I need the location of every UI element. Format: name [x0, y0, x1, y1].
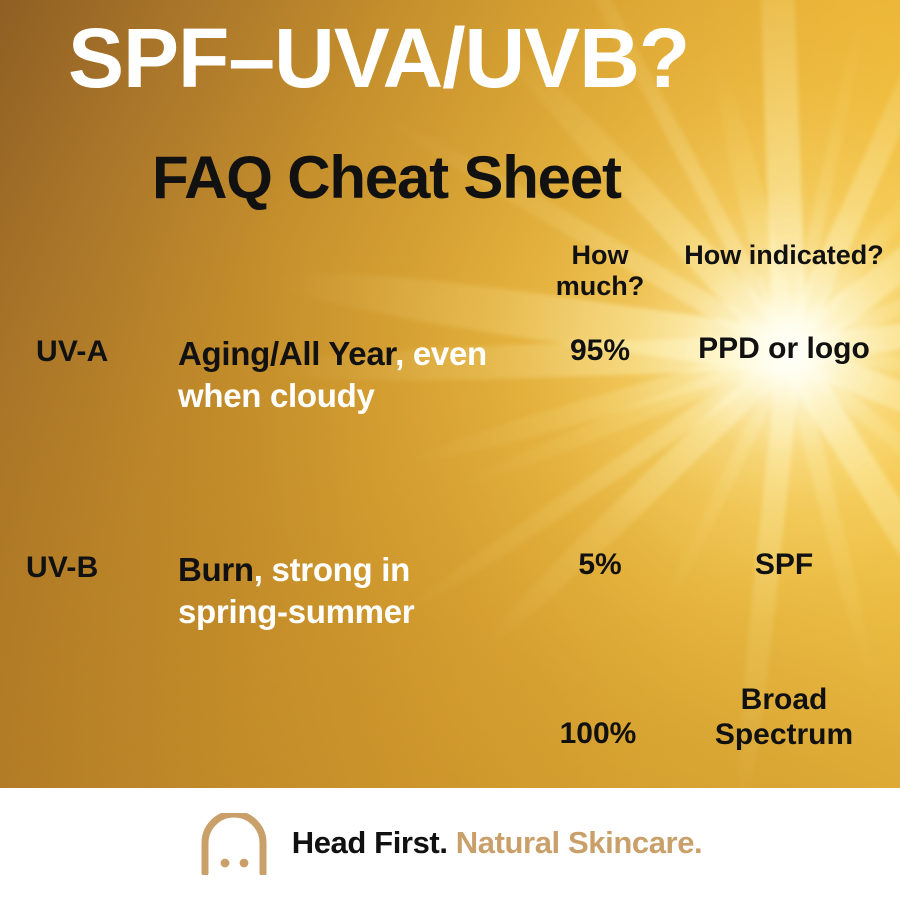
sun-ray [783, 110, 900, 357]
cell-uvb-how-much: 5% [530, 547, 670, 582]
brand-footer: Head First. Natural Skincare. [0, 788, 900, 900]
sun-ray [779, 0, 900, 357]
poster-canvas: SPF–UVA/UVB? FAQ Cheat Sheet How much? H… [0, 0, 900, 900]
column-header-how-much: How much? [530, 240, 670, 303]
sun-ray [781, 350, 886, 704]
brand-name-primary: Head First. [292, 825, 448, 860]
row-description-uva: Aging/All Year, even when cloudy [178, 333, 508, 417]
sun-ray [785, 339, 900, 530]
sun-ray [705, 58, 803, 355]
row-description-uva-emphasis: Aging/All Year [178, 335, 395, 372]
column-header-how-indicated: How indicated? [676, 240, 892, 271]
row-label-uva: UV-A [36, 335, 108, 369]
cell-uva-how-indicated: PPD or logo [676, 331, 892, 366]
page-subtitle: FAQ Cheat Sheet [152, 148, 621, 208]
cell-uvb-how-indicated: SPF [676, 547, 892, 582]
brand-wordmark: Head First. Natural Skincare. [292, 825, 703, 864]
row-label-uvb: UV-B [26, 551, 98, 585]
row-description-uvb-emphasis: Burn [178, 551, 254, 588]
sun-ray [652, 349, 796, 625]
cell-total-how-much: 100% [528, 716, 668, 751]
brand-name-secondary [448, 825, 456, 860]
cell-uva-how-much: 95% [530, 333, 670, 368]
sun-ray [751, 0, 807, 353]
sun-ray [472, 343, 799, 660]
cell-total-how-indicated: Broad Spectrum [676, 682, 892, 753]
sun-ray [783, 0, 872, 353]
page-title: SPF–UVA/UVB? [68, 16, 689, 100]
sun-ray [785, 346, 900, 570]
row-description-uvb: Burn, strong in spring-summer [178, 549, 508, 633]
sun-ray [781, 51, 900, 364]
head-arch-face-icon [198, 813, 270, 875]
brand-tagline: Natural Skincare. [456, 825, 702, 860]
